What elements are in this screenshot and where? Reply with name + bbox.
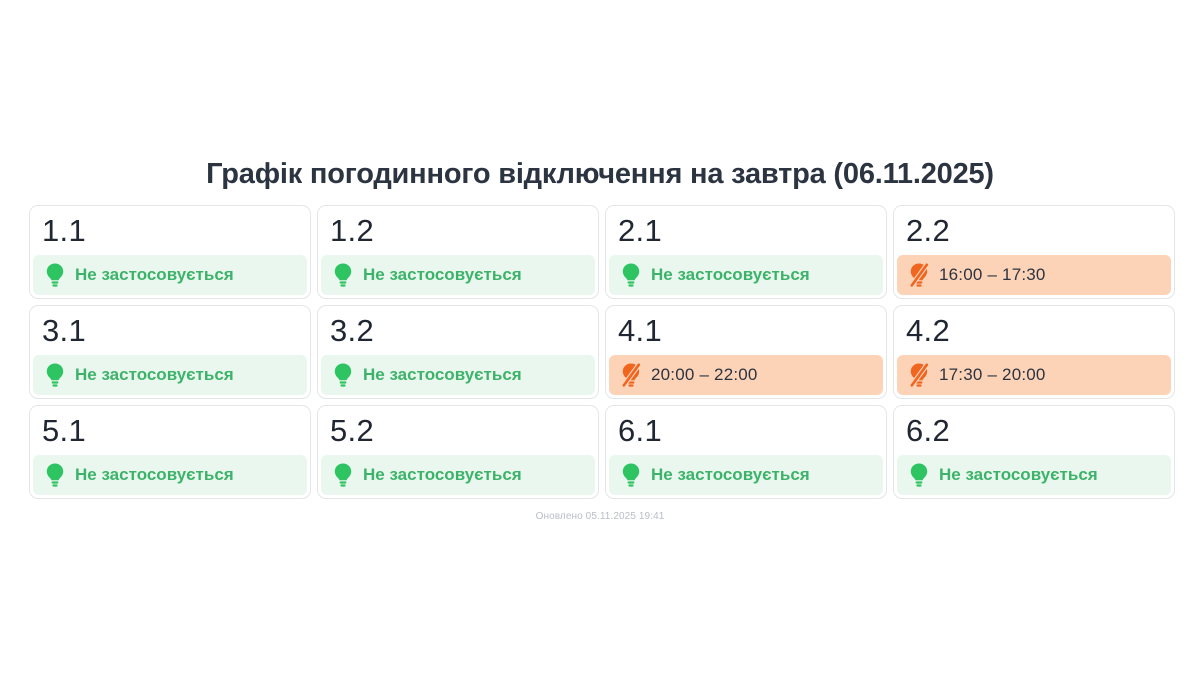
group-number: 1.2 [330, 213, 374, 249]
status-label: Не застосовується [363, 365, 522, 385]
group-card[interactable]: 3.2Не застосовується [317, 305, 599, 399]
lightbulb-icon [44, 262, 66, 288]
group-card[interactable]: 1.2Не застосовується [317, 205, 599, 299]
group-number: 1.1 [42, 213, 86, 249]
lightbulb-icon [44, 462, 66, 488]
page-title: Графік погодинного відключення на завтра… [0, 158, 1200, 191]
group-card[interactable]: 2.1Не застосовується [605, 205, 887, 299]
updated-timestamp: Оновлено 05.11.2025 19:41 [0, 511, 1200, 522]
group-number: 4.1 [618, 313, 662, 349]
outage-status-bar: 16:00 – 17:30 [897, 255, 1171, 295]
group-card[interactable]: 6.2Не застосовується [893, 405, 1175, 499]
status-label: Не застосовується [75, 465, 234, 485]
group-number: 3.2 [330, 313, 374, 349]
available-status-bar: Не застосовується [33, 255, 307, 295]
group-card[interactable]: 1.1Не застосовується [29, 205, 311, 299]
lightbulb-icon [620, 262, 642, 288]
lightbulb-off-icon [908, 262, 930, 288]
outage-time-range: 20:00 – 22:00 [651, 365, 758, 385]
outage-status-bar: 20:00 – 22:00 [609, 355, 883, 395]
group-number: 2.2 [906, 213, 950, 249]
available-status-bar: Не застосовується [321, 255, 595, 295]
status-label: Не застосовується [363, 265, 522, 285]
lightbulb-off-icon [620, 362, 642, 388]
available-status-bar: Не застосовується [321, 455, 595, 495]
group-card[interactable]: 5.1Не застосовується [29, 405, 311, 499]
group-card[interactable]: 5.2Не застосовується [317, 405, 599, 499]
status-label: Не застосовується [75, 365, 234, 385]
outage-time-range: 16:00 – 17:30 [939, 265, 1046, 285]
group-number: 5.2 [330, 413, 374, 449]
group-card[interactable]: 2.216:00 – 17:30 [893, 205, 1175, 299]
group-card[interactable]: 4.120:00 – 22:00 [605, 305, 887, 399]
lightbulb-icon [620, 462, 642, 488]
status-label: Не застосовується [363, 465, 522, 485]
status-label: Не застосовується [75, 265, 234, 285]
available-status-bar: Не застосовується [321, 355, 595, 395]
outage-time-range: 17:30 – 20:00 [939, 365, 1046, 385]
group-card[interactable]: 6.1Не застосовується [605, 405, 887, 499]
group-number: 2.1 [618, 213, 662, 249]
group-number: 3.1 [42, 313, 86, 349]
group-grid: 1.1Не застосовується1.2Не застосовується… [29, 205, 1175, 499]
lightbulb-icon [332, 362, 354, 388]
group-card[interactable]: 4.217:30 – 20:00 [893, 305, 1175, 399]
available-status-bar: Не застосовується [33, 455, 307, 495]
group-number: 5.1 [42, 413, 86, 449]
available-status-bar: Не застосовується [609, 255, 883, 295]
available-status-bar: Не застосовується [33, 355, 307, 395]
available-status-bar: Не застосовується [897, 455, 1171, 495]
lightbulb-icon [332, 462, 354, 488]
outage-schedule-page: Графік погодинного відключення на завтра… [0, 0, 1200, 675]
lightbulb-off-icon [908, 362, 930, 388]
lightbulb-icon [332, 262, 354, 288]
available-status-bar: Не застосовується [609, 455, 883, 495]
group-card[interactable]: 3.1Не застосовується [29, 305, 311, 399]
outage-status-bar: 17:30 – 20:00 [897, 355, 1171, 395]
group-number: 6.1 [618, 413, 662, 449]
status-label: Не застосовується [651, 465, 810, 485]
group-number: 6.2 [906, 413, 950, 449]
lightbulb-icon [908, 462, 930, 488]
group-number: 4.2 [906, 313, 950, 349]
status-label: Не застосовується [939, 465, 1098, 485]
status-label: Не застосовується [651, 265, 810, 285]
lightbulb-icon [44, 362, 66, 388]
